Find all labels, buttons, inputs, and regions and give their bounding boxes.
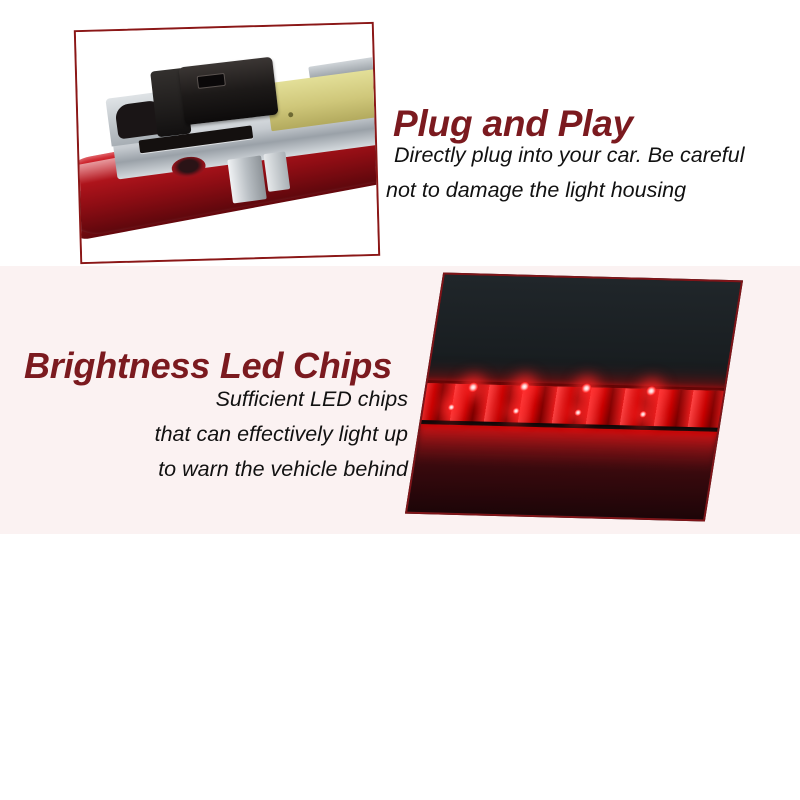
panel-body-plug-and-play: Directly plug into your car. Be careful … — [386, 138, 745, 208]
body-line: to warn the vehicle behind — [0, 452, 408, 487]
connector-scene — [76, 24, 378, 262]
panel-abs-cover: ABS Cover The scratch-resistant, dustpro… — [0, 534, 800, 800]
body-line: Directly plug into your car. Be careful — [394, 138, 745, 173]
infographic-page: Plug and Play Directly plug into your ca… — [0, 0, 800, 800]
body-line: that can effectively light up — [0, 417, 408, 452]
panel-body-brightness-led-chips: Sufficient LED chips that can effectivel… — [0, 382, 408, 486]
led-point-5 — [447, 403, 455, 410]
panel-heading-brightness-led-chips: Brightness Led Chips — [24, 348, 392, 384]
metal-clip — [227, 155, 267, 203]
connector-photo-inner — [76, 24, 378, 262]
black-plug-connector — [179, 57, 279, 125]
night-sky — [428, 275, 741, 392]
body-line: not to damage the light housing — [386, 173, 745, 208]
surface-reflection — [415, 426, 717, 472]
panel-plug-and-play: Plug and Play Directly plug into your ca… — [0, 0, 800, 266]
body-line: Sufficient LED chips — [0, 382, 408, 417]
brake-light-connector-photo — [74, 22, 380, 264]
illuminated-led-bar-photo — [405, 273, 743, 522]
panel-heading-plug-and-play: Plug and Play — [393, 105, 633, 142]
